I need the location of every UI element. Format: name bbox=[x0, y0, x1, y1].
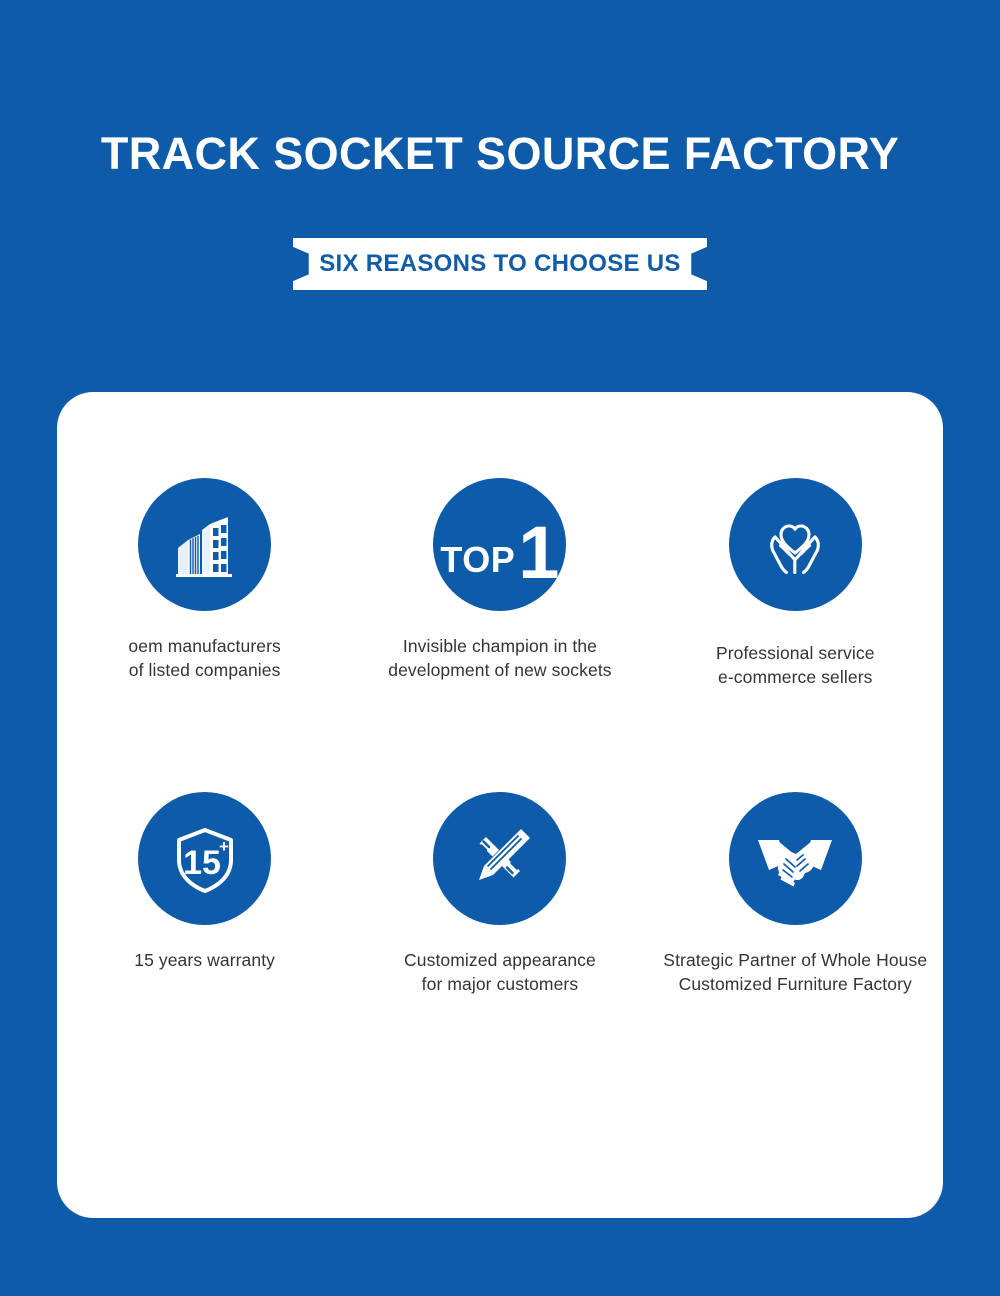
svg-text:+: + bbox=[219, 837, 229, 856]
reason-item-invisible-champion: TOP 1 Invisible champion in the developm… bbox=[352, 478, 647, 792]
reason-icon-circle bbox=[138, 478, 271, 611]
reason-item-professional-service: Professional service e-commerce sellers bbox=[648, 478, 943, 792]
subtitle-ribbon-label: SIX REASONS TO CHOOSE US bbox=[319, 250, 681, 278]
reason-caption: Customized appearance for major customer… bbox=[404, 949, 596, 996]
page-title: TRACK SOCKET SOURCE FACTORY bbox=[0, 128, 1000, 180]
reason-icon-circle: TOP 1 bbox=[433, 478, 566, 611]
reason-icon-circle bbox=[433, 792, 566, 925]
reason-caption: 15 years warranty bbox=[134, 949, 275, 973]
top-number: 1 bbox=[518, 523, 559, 582]
reason-caption: Professional service e-commerce sellers bbox=[716, 642, 875, 689]
reason-item-warranty: 15 + 15 years warranty bbox=[57, 792, 352, 1092]
heart-in-hands-icon bbox=[753, 503, 837, 587]
reason-icon-circle: 15 + bbox=[138, 792, 271, 925]
pencil-and-ruler-icon bbox=[459, 818, 541, 900]
reason-icon-circle bbox=[729, 792, 862, 925]
reason-item-oem-manufacturers: oem manufacturers of listed companies bbox=[57, 478, 352, 792]
reason-caption: Invisible champion in the development of… bbox=[388, 635, 611, 682]
reasons-card: oem manufacturers of listed companies TO… bbox=[57, 392, 943, 1218]
reason-item-strategic-partner: Strategic Partner of Whole House Customi… bbox=[648, 792, 943, 1092]
reason-icon-circle bbox=[729, 478, 862, 611]
svg-text:15: 15 bbox=[183, 844, 221, 882]
top-one-badge-icon: TOP 1 bbox=[440, 517, 559, 581]
handshake-icon bbox=[751, 815, 839, 903]
reason-caption: Strategic Partner of Whole House Customi… bbox=[663, 949, 927, 996]
reason-item-customized-appearance: Customized appearance for major customer… bbox=[352, 792, 647, 1092]
reason-caption: oem manufacturers of listed companies bbox=[128, 635, 280, 682]
subtitle-ribbon: SIX REASONS TO CHOOSE US bbox=[293, 238, 707, 290]
office-buildings-icon bbox=[166, 506, 244, 584]
reasons-grid: oem manufacturers of listed companies TO… bbox=[57, 478, 943, 1092]
shield-15-plus-icon: 15 + bbox=[164, 818, 246, 900]
top-word: TOP bbox=[440, 539, 515, 581]
